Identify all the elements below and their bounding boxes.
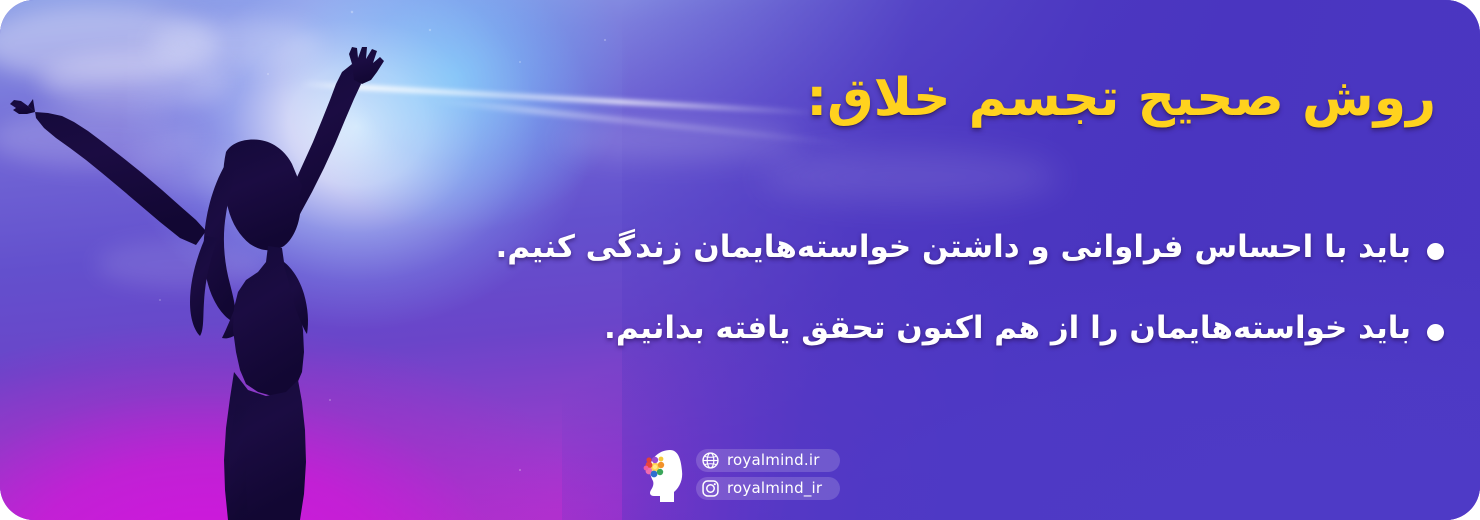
social-badges: royalmind.ir royalmind_ir [696, 449, 840, 500]
brand-footer: royalmind.ir royalmind_ir [640, 446, 840, 502]
instagram-label: royalmind_ir [727, 479, 822, 497]
globe-icon [701, 451, 720, 470]
instagram-icon [701, 479, 720, 498]
bullet-list: باید با احساس فراوانی و داشتن خواسته‌های… [344, 228, 1444, 390]
list-item: باید با احساس فراوانی و داشتن خواسته‌های… [344, 228, 1444, 267]
bullet-dot-icon [1427, 243, 1444, 260]
list-item-label: باید خواسته‌هایمان را از هم اکنون تحقق ی… [604, 309, 1411, 348]
promo-banner: روش صحیح تجسم خلاق: باید با احساس فراوان… [0, 0, 1480, 520]
head-profile-brain-icon [640, 446, 686, 502]
instagram-badge[interactable]: royalmind_ir [696, 477, 840, 500]
list-item-label: باید با احساس فراوانی و داشتن خواسته‌های… [495, 228, 1411, 267]
banner-content: روش صحیح تجسم خلاق: باید با احساس فراوان… [0, 0, 1480, 520]
website-badge[interactable]: royalmind.ir [696, 449, 840, 472]
website-label: royalmind.ir [727, 451, 820, 469]
list-item: باید خواسته‌هایمان را از هم اکنون تحقق ی… [344, 309, 1444, 348]
bullet-dot-icon [1427, 324, 1444, 341]
page-title: روش صحیح تجسم خلاق: [806, 68, 1436, 128]
